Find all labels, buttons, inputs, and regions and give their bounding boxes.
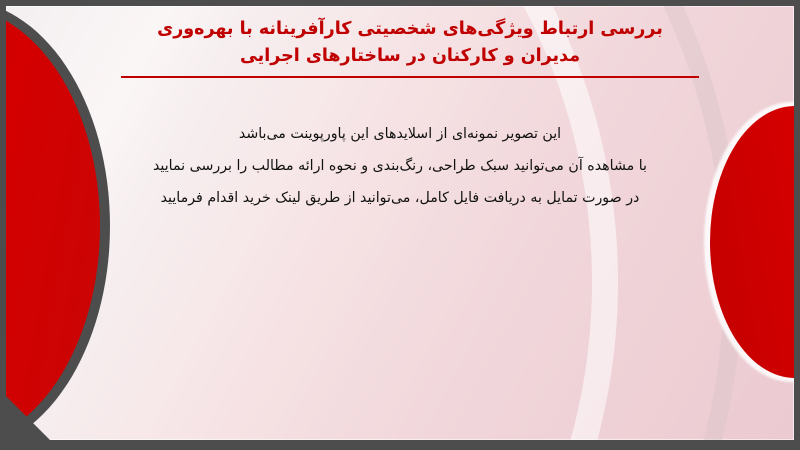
body-line-1: این تصویر نمونه‌ای از اسلایدهای این پاور… [90, 118, 710, 150]
body-line-2: با مشاهده آن می‌توانید سبک طراحی، رنگ‌بن… [90, 150, 710, 182]
slide-body: این تصویر نمونه‌ای از اسلایدهای این پاور… [90, 118, 710, 214]
red-ellipse-right [710, 106, 794, 378]
body-line-3: در صورت تمایل به دریافت فایل کامل، می‌تو… [90, 182, 710, 214]
title-line-1: بررسی ارتباط ویژگی‌های شخصیتی کارآفرینان… [110, 16, 710, 43]
title-underline-rule [121, 76, 699, 78]
title-line-2: مدیران و کارکنان در ساختارهای اجرایی [110, 43, 710, 70]
red-ellipse-left [6, 6, 100, 440]
slide-title: بررسی ارتباط ویژگی‌های شخصیتی کارآفرینان… [110, 16, 710, 78]
slide-root: بررسی ارتباط ویژگی‌های شخصیتی کارآفرینان… [0, 0, 800, 450]
